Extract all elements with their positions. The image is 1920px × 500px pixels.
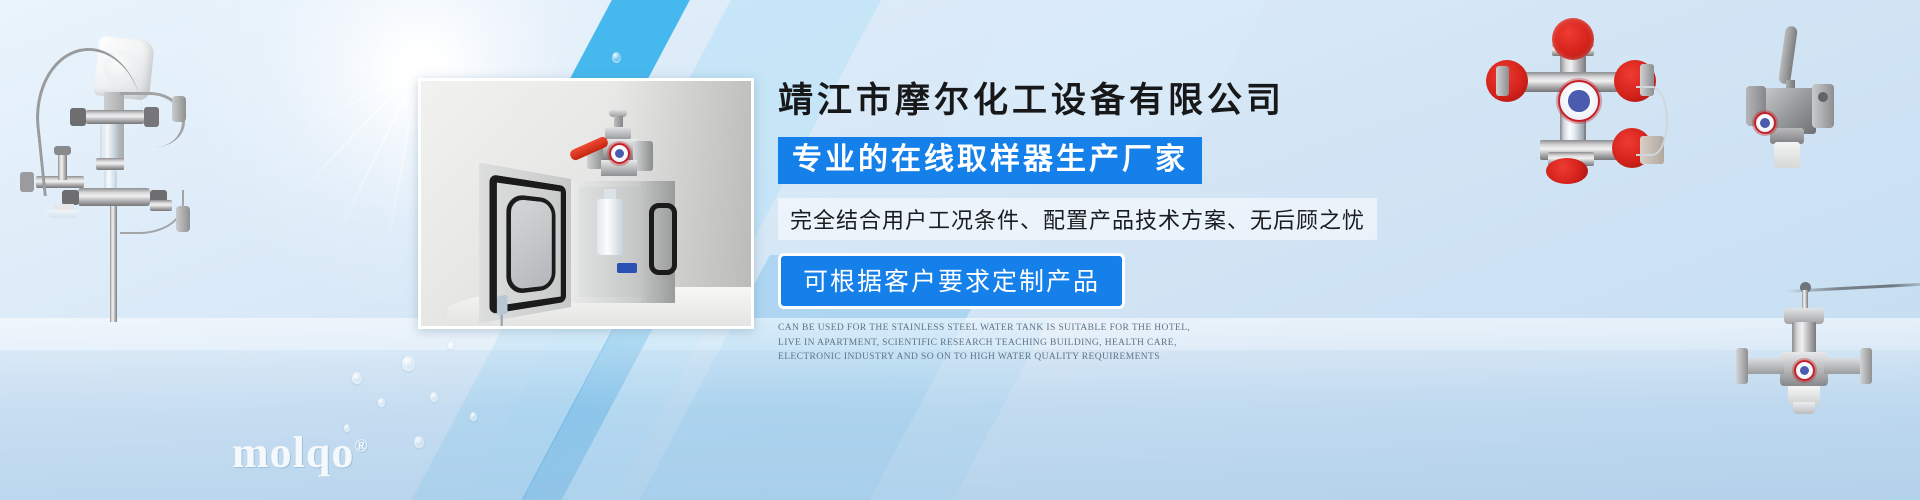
brand-watermark: molqo® xyxy=(232,427,369,478)
red-handwheel-icon xyxy=(1552,18,1594,60)
certification-badge-icon xyxy=(1754,112,1776,134)
water-droplet xyxy=(470,412,477,421)
certification-badge-icon xyxy=(1794,360,1815,381)
english-description: CAN BE USED FOR THE STAINLESS STEEL WATE… xyxy=(778,321,1194,365)
promotional-banner: 靖江市摩尔化工设备有限公司 专业的在线取样器生产厂家 完全结合用户工况条件、配置… xyxy=(0,0,1920,500)
registered-mark-icon: ® xyxy=(354,435,368,455)
watermark-text: molqo xyxy=(232,428,354,477)
water-droplet xyxy=(402,356,415,371)
water-droplet xyxy=(414,436,424,448)
marketing-text-block: 靖江市摩尔化工设备有限公司 专业的在线取样器生产厂家 完全结合用户工况条件、配置… xyxy=(778,72,1418,365)
water-droplet xyxy=(378,398,385,407)
water-droplet xyxy=(430,392,438,402)
center-product-photo xyxy=(418,78,754,329)
water-droplet xyxy=(352,372,362,384)
service-subline: 完全结合用户工况条件、配置产品技术方案、无后顾之忧 xyxy=(778,198,1377,240)
company-name: 靖江市摩尔化工设备有限公司 xyxy=(778,72,1418,123)
tagline-highlight: 专业的在线取样器生产厂家 xyxy=(778,137,1202,184)
water-droplet xyxy=(448,342,454,349)
customization-badge: 可根据客户要求定制产品 xyxy=(778,253,1125,309)
red-handwheel-icon xyxy=(1546,158,1588,184)
certification-badge-icon xyxy=(1558,80,1600,122)
water-droplet xyxy=(612,52,621,63)
